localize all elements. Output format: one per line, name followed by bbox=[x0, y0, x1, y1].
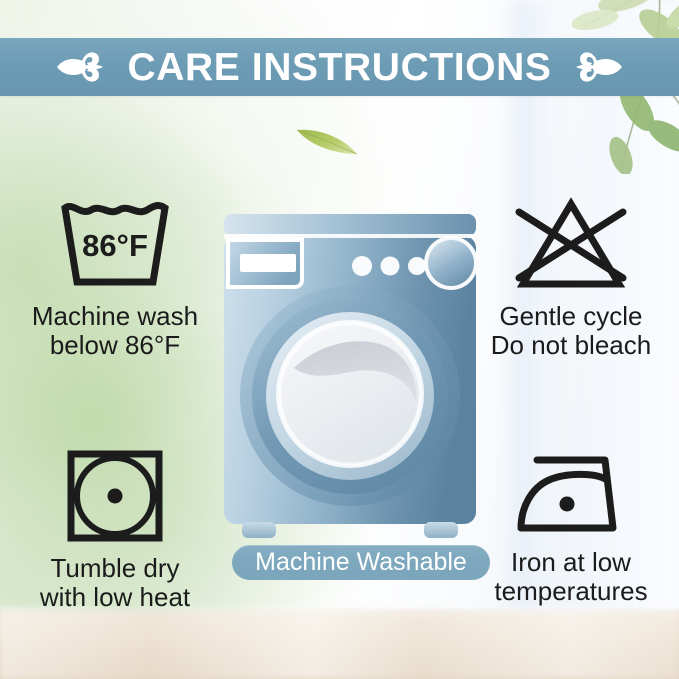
care-symbol-do-not-bleach: Gentle cycle Do not bleach bbox=[466, 196, 676, 360]
control-dot bbox=[381, 257, 400, 276]
header-banner: CARE INSTRUCTIONS bbox=[0, 38, 679, 96]
care-label-do-not-bleach: Gentle cycle Do not bleach bbox=[491, 302, 651, 360]
fleur-de-lis-icon bbox=[53, 45, 105, 89]
display-screen bbox=[240, 254, 296, 272]
washing-machine-illustration bbox=[210, 196, 490, 548]
care-label-tumble-dry: Tumble dry with low heat bbox=[40, 554, 190, 612]
control-dial bbox=[428, 240, 474, 286]
care-symbol-tumble-dry: Tumble dry with low heat bbox=[10, 446, 220, 612]
do-not-bleach-triangle-icon bbox=[509, 196, 633, 294]
iron-low-heat-icon bbox=[509, 446, 633, 540]
control-dot bbox=[408, 257, 426, 275]
washer-foot bbox=[424, 522, 458, 538]
care-instructions-infographic: CARE INSTRUCTIONS 86°F Machine wash belo… bbox=[0, 0, 679, 679]
tumble-dry-low-icon bbox=[63, 446, 167, 546]
wash-tub-icon: 86°F bbox=[53, 196, 177, 294]
care-symbol-iron-low: Iron at low temperatures bbox=[466, 446, 676, 606]
fleur-de-lis-icon bbox=[574, 45, 626, 89]
control-dot bbox=[352, 256, 372, 276]
washer-top-lid bbox=[224, 214, 476, 236]
machine-washable-badge: Machine Washable bbox=[232, 545, 490, 580]
table-sheen bbox=[0, 607, 679, 679]
care-symbol-machine-wash: 86°F Machine wash below 86°F bbox=[10, 196, 220, 360]
care-label-iron: Iron at low temperatures bbox=[494, 548, 647, 606]
page-title: CARE INSTRUCTIONS bbox=[127, 48, 551, 87]
wash-temperature-value: 86°F bbox=[82, 228, 148, 263]
care-label-machine-wash: Machine wash below 86°F bbox=[32, 302, 198, 360]
washer-foot bbox=[242, 522, 276, 538]
badge-label: Machine Washable bbox=[255, 550, 467, 575]
